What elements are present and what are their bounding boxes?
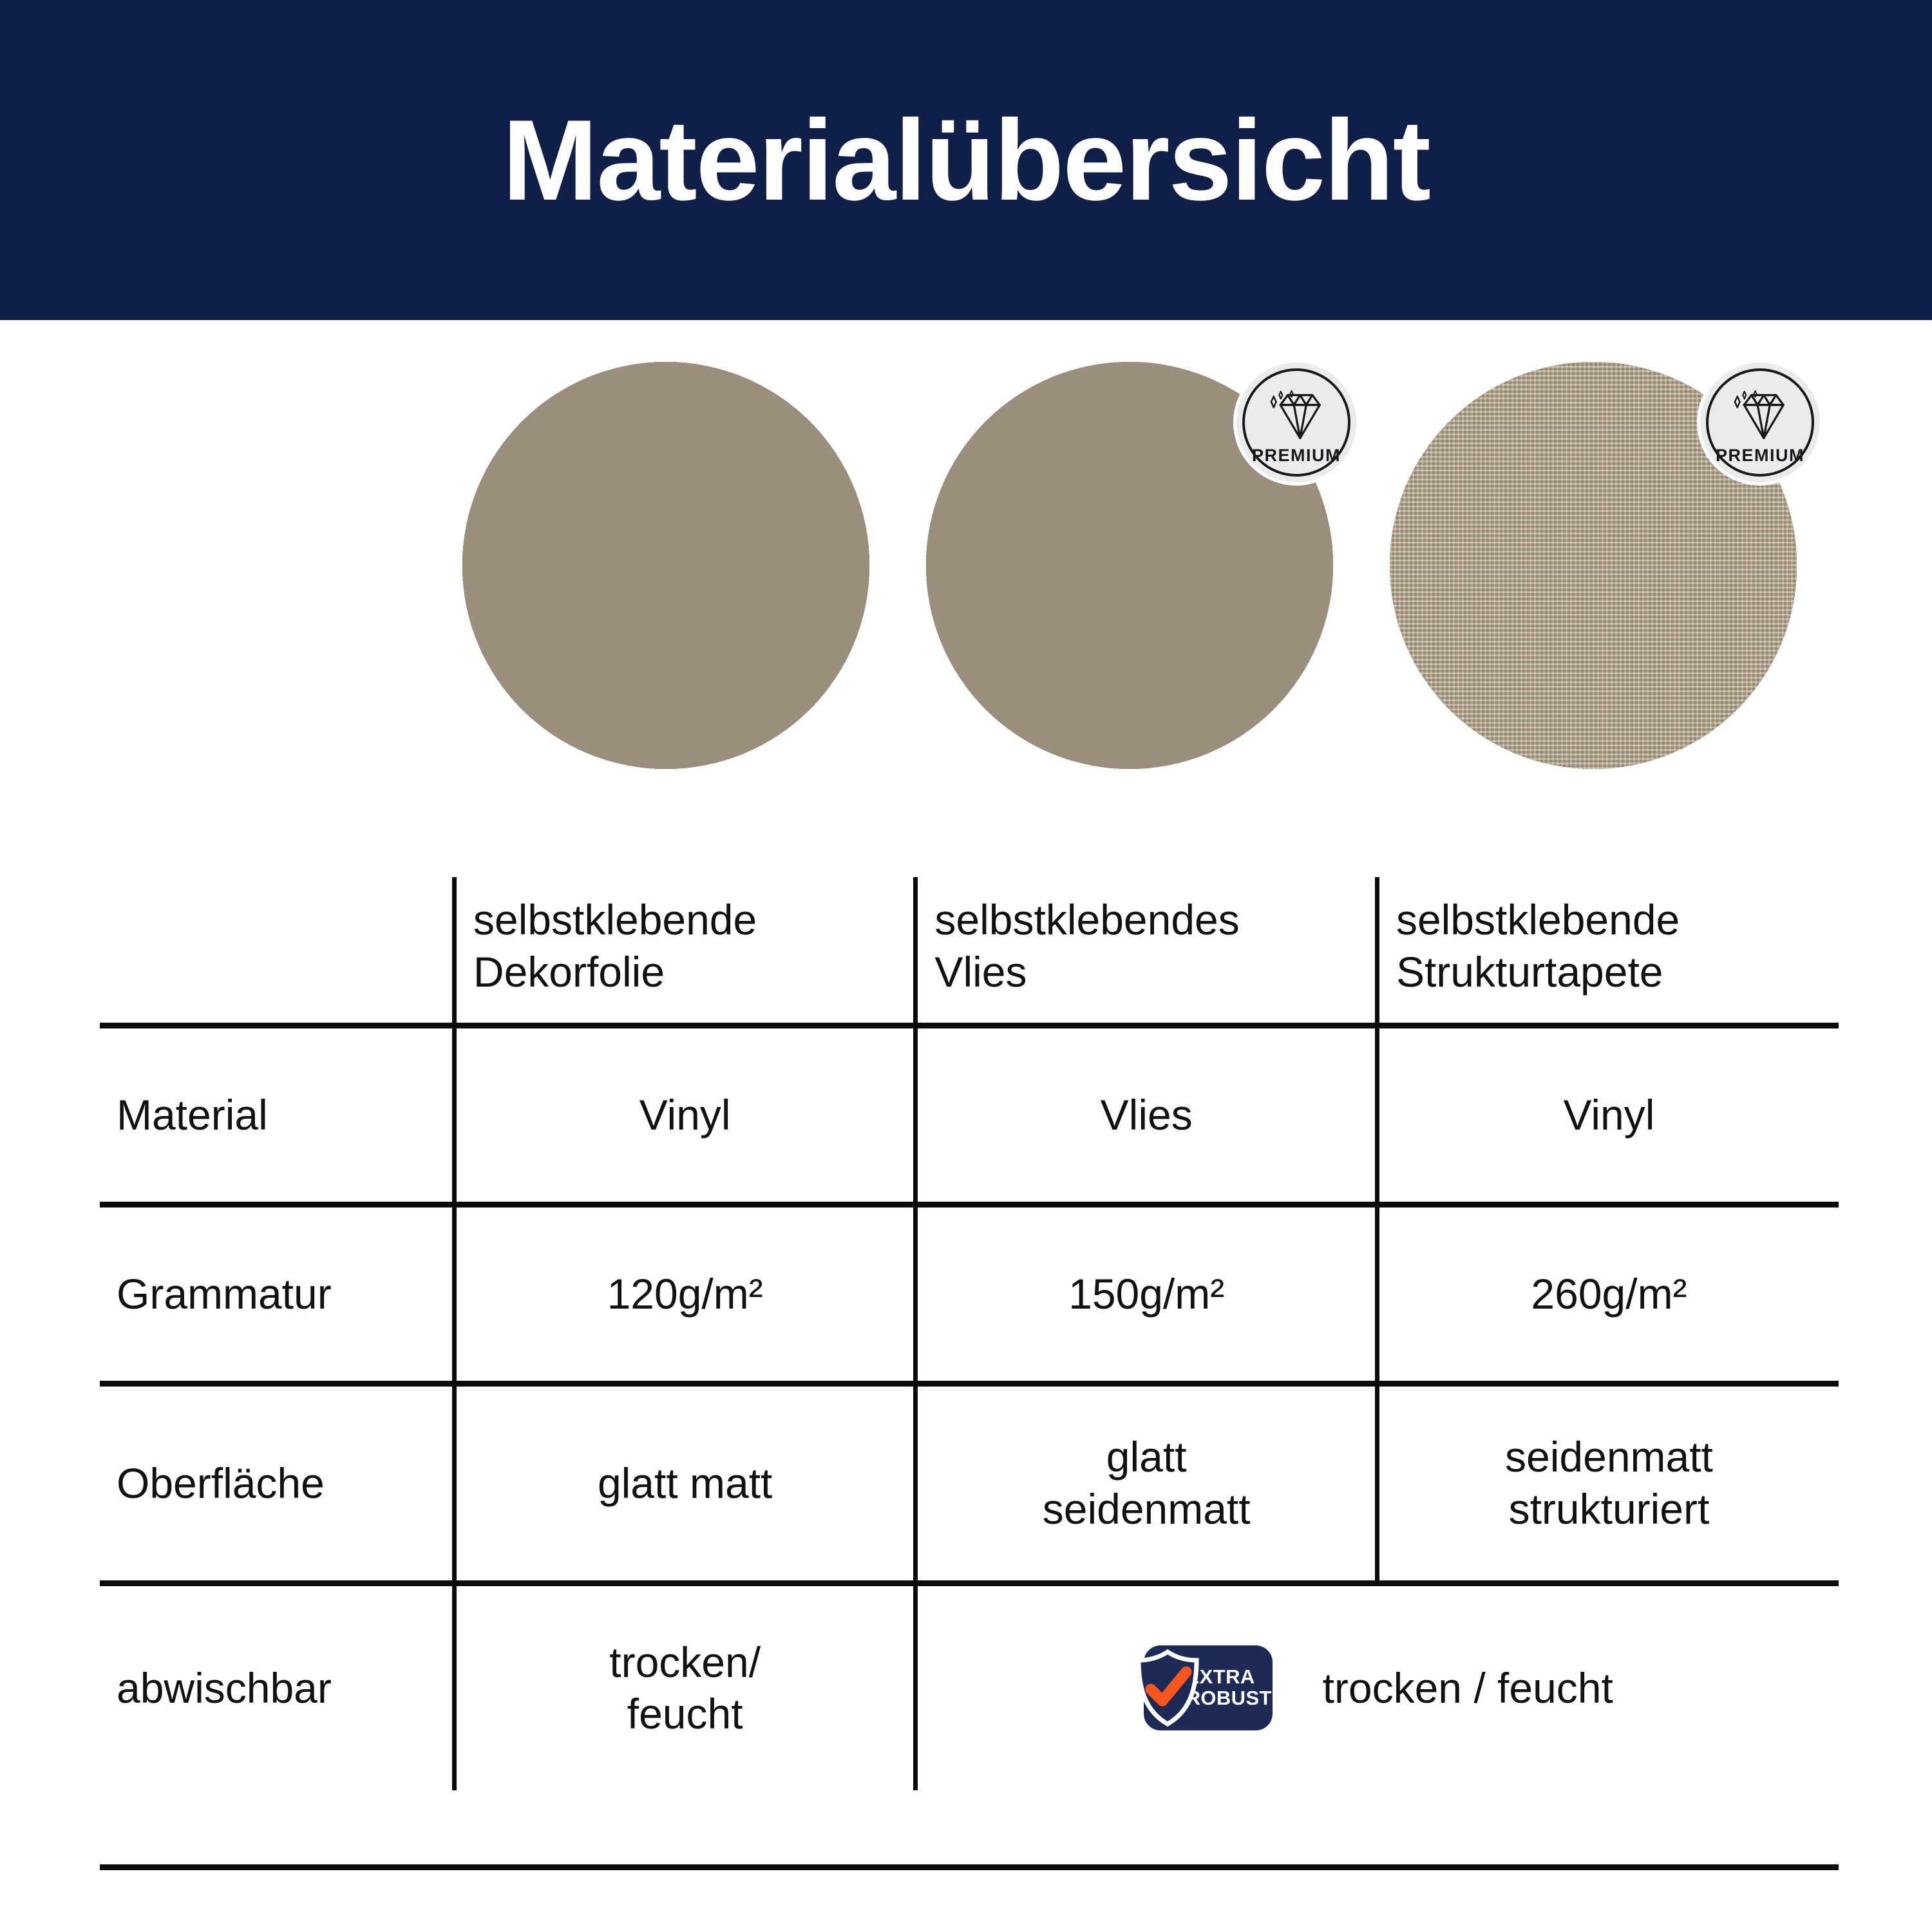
shield-check-icon (1133, 1649, 1202, 1727)
material-overview-page: Materialübersicht (0, 0, 1932, 1932)
page-title: Materialübersicht (502, 103, 1430, 218)
header-line-1: selbstklebende (1396, 896, 1680, 943)
swatch-1[interactable] (462, 362, 869, 769)
cell-abwischbar-dekorfolie: trocken/ feucht (454, 1583, 916, 1790)
swatch-row: PREMIUM (0, 361, 1932, 773)
row-label-material: Material (100, 1025, 454, 1204)
premium-badge: PREMIUM (1697, 359, 1823, 486)
premium-badge-label: PREMIUM (1716, 446, 1804, 466)
row-label-abwischbar: abwischbar (100, 1583, 454, 1790)
cell-oberflaeche-dekorfolie: glatt matt (454, 1383, 916, 1583)
premium-badge-label: PREMIUM (1252, 446, 1341, 466)
row-label-grammatur: Grammatur (100, 1204, 454, 1383)
cell-material-dekorfolie: Vinyl (454, 1025, 916, 1204)
swatch-3[interactable]: PREMIUM (1390, 362, 1797, 769)
premium-badge: PREMIUM (1233, 359, 1359, 486)
table-row-abwischbar: abwischbar trocken/ feucht (100, 1583, 1839, 1790)
header-corner-cell (100, 877, 454, 1025)
swatch-2[interactable]: PREMIUM (926, 362, 1333, 769)
header-line-2: Dekorfolie (473, 948, 665, 996)
cell-oberflaeche-vlies: glatt seidenmatt (916, 1383, 1378, 1583)
table-row-material: Material Vinyl Vlies Vinyl (100, 1025, 1839, 1204)
value-line-1: seidenmatt (1505, 1433, 1713, 1481)
extra-robust-badge: EXTRA ROBUST (1144, 1645, 1273, 1730)
header-line-1: selbstklebendes (934, 896, 1239, 943)
cell-grammatur-dekorfolie: 120g/m² (454, 1204, 916, 1383)
header-line-2: Vlies (934, 948, 1027, 996)
cell-material-vlies: Vlies (916, 1025, 1378, 1204)
header-line-1: selbstklebende (473, 896, 757, 943)
cell-grammatur-vlies: 150g/m² (916, 1204, 1378, 1383)
value-line-2: seidenmatt (1043, 1485, 1251, 1533)
column-header-strukturtapete: selbstklebende Strukturtapete (1377, 877, 1839, 1025)
material-comparison-table: selbstklebende Dekorfolie selbstklebende… (100, 877, 1839, 1790)
merged-value-text: trocken / feucht (1323, 1662, 1613, 1714)
swatch-image-dekorfolie (462, 362, 869, 769)
value-line-1: glatt (1106, 1433, 1187, 1481)
table-bottom-border (100, 1864, 1839, 1870)
merged-cell-content: EXTRA ROBUST trocken / feucht (929, 1645, 1827, 1730)
row-label-oberflaeche: Oberfläche (100, 1383, 454, 1583)
column-header-dekorfolie: selbstklebende Dekorfolie (454, 877, 916, 1025)
value-line-2: strukturiert (1509, 1485, 1710, 1533)
value-line-1: trocken/ (609, 1638, 761, 1686)
cell-grammatur-strukturtapete: 260g/m² (1377, 1204, 1839, 1383)
page-header: Materialübersicht (0, 0, 1932, 320)
cell-material-strukturtapete: Vinyl (1377, 1025, 1839, 1204)
table-header-row: selbstklebende Dekorfolie selbstklebende… (100, 877, 1839, 1025)
diamond-icon (1265, 389, 1327, 442)
diamond-icon (1729, 389, 1791, 442)
cell-oberflaeche-strukturtapete: seidenmatt strukturiert (1377, 1383, 1839, 1583)
column-header-vlies: selbstklebendes Vlies (916, 877, 1378, 1025)
table-row-grammatur: Grammatur 120g/m² 150g/m² 260g/m² (100, 1204, 1839, 1383)
cell-abwischbar-merged: EXTRA ROBUST trocken / feucht (916, 1583, 1839, 1790)
gravel-texture (462, 362, 869, 769)
table-row-oberflaeche: Oberfläche glatt matt glatt seidenmatt s… (100, 1383, 1839, 1583)
value-line-2: feucht (627, 1690, 743, 1738)
header-line-2: Strukturtapete (1396, 948, 1663, 996)
